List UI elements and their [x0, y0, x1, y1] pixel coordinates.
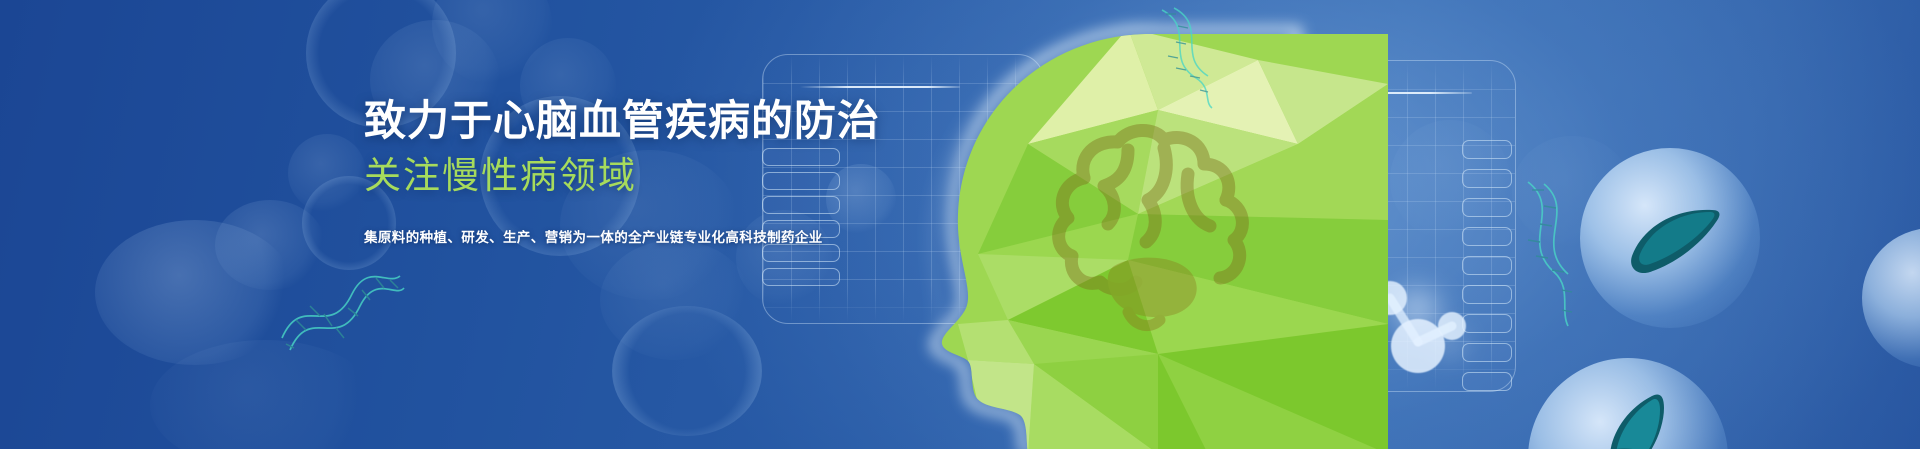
bokeh-circle	[95, 220, 295, 365]
banner-copy: 致力于心脑血管疾病的防治 关注慢性病领域 集原料的种植、研发、生产、营销为一体的…	[364, 96, 884, 246]
hud-bar	[1462, 140, 1512, 159]
bacteria-icon	[1616, 194, 1736, 284]
low-poly-human-head	[828, 24, 1388, 449]
hud-bar	[1462, 227, 1512, 246]
page-title: 致力于心脑血管疾病的防治	[364, 96, 884, 146]
hud-bar	[1462, 198, 1512, 217]
brain-icon	[828, 24, 1388, 449]
dna-helix-icon	[1510, 180, 1588, 330]
bacteria-icon	[1568, 388, 1718, 449]
bokeh-circle	[150, 340, 380, 449]
dna-helix-icon	[276, 268, 406, 356]
page-tagline: 集原料的种植、研发、生产、营销为一体的全产业链专业化高科技制药企业	[364, 226, 884, 246]
page-subtitle: 关注慢性病领域	[364, 154, 884, 198]
bokeh-circle	[432, 0, 552, 84]
bokeh-circle	[288, 134, 366, 212]
bokeh-ring	[612, 306, 762, 436]
hero-banner: 致力于心脑血管疾病的防治 关注慢性病领域 集原料的种植、研发、生产、营销为一体的…	[0, 0, 1920, 449]
dna-helix-icon	[1150, 6, 1222, 112]
hud-bar	[1462, 169, 1512, 188]
cell-icon	[1862, 228, 1920, 368]
bokeh-circle	[600, 240, 750, 360]
